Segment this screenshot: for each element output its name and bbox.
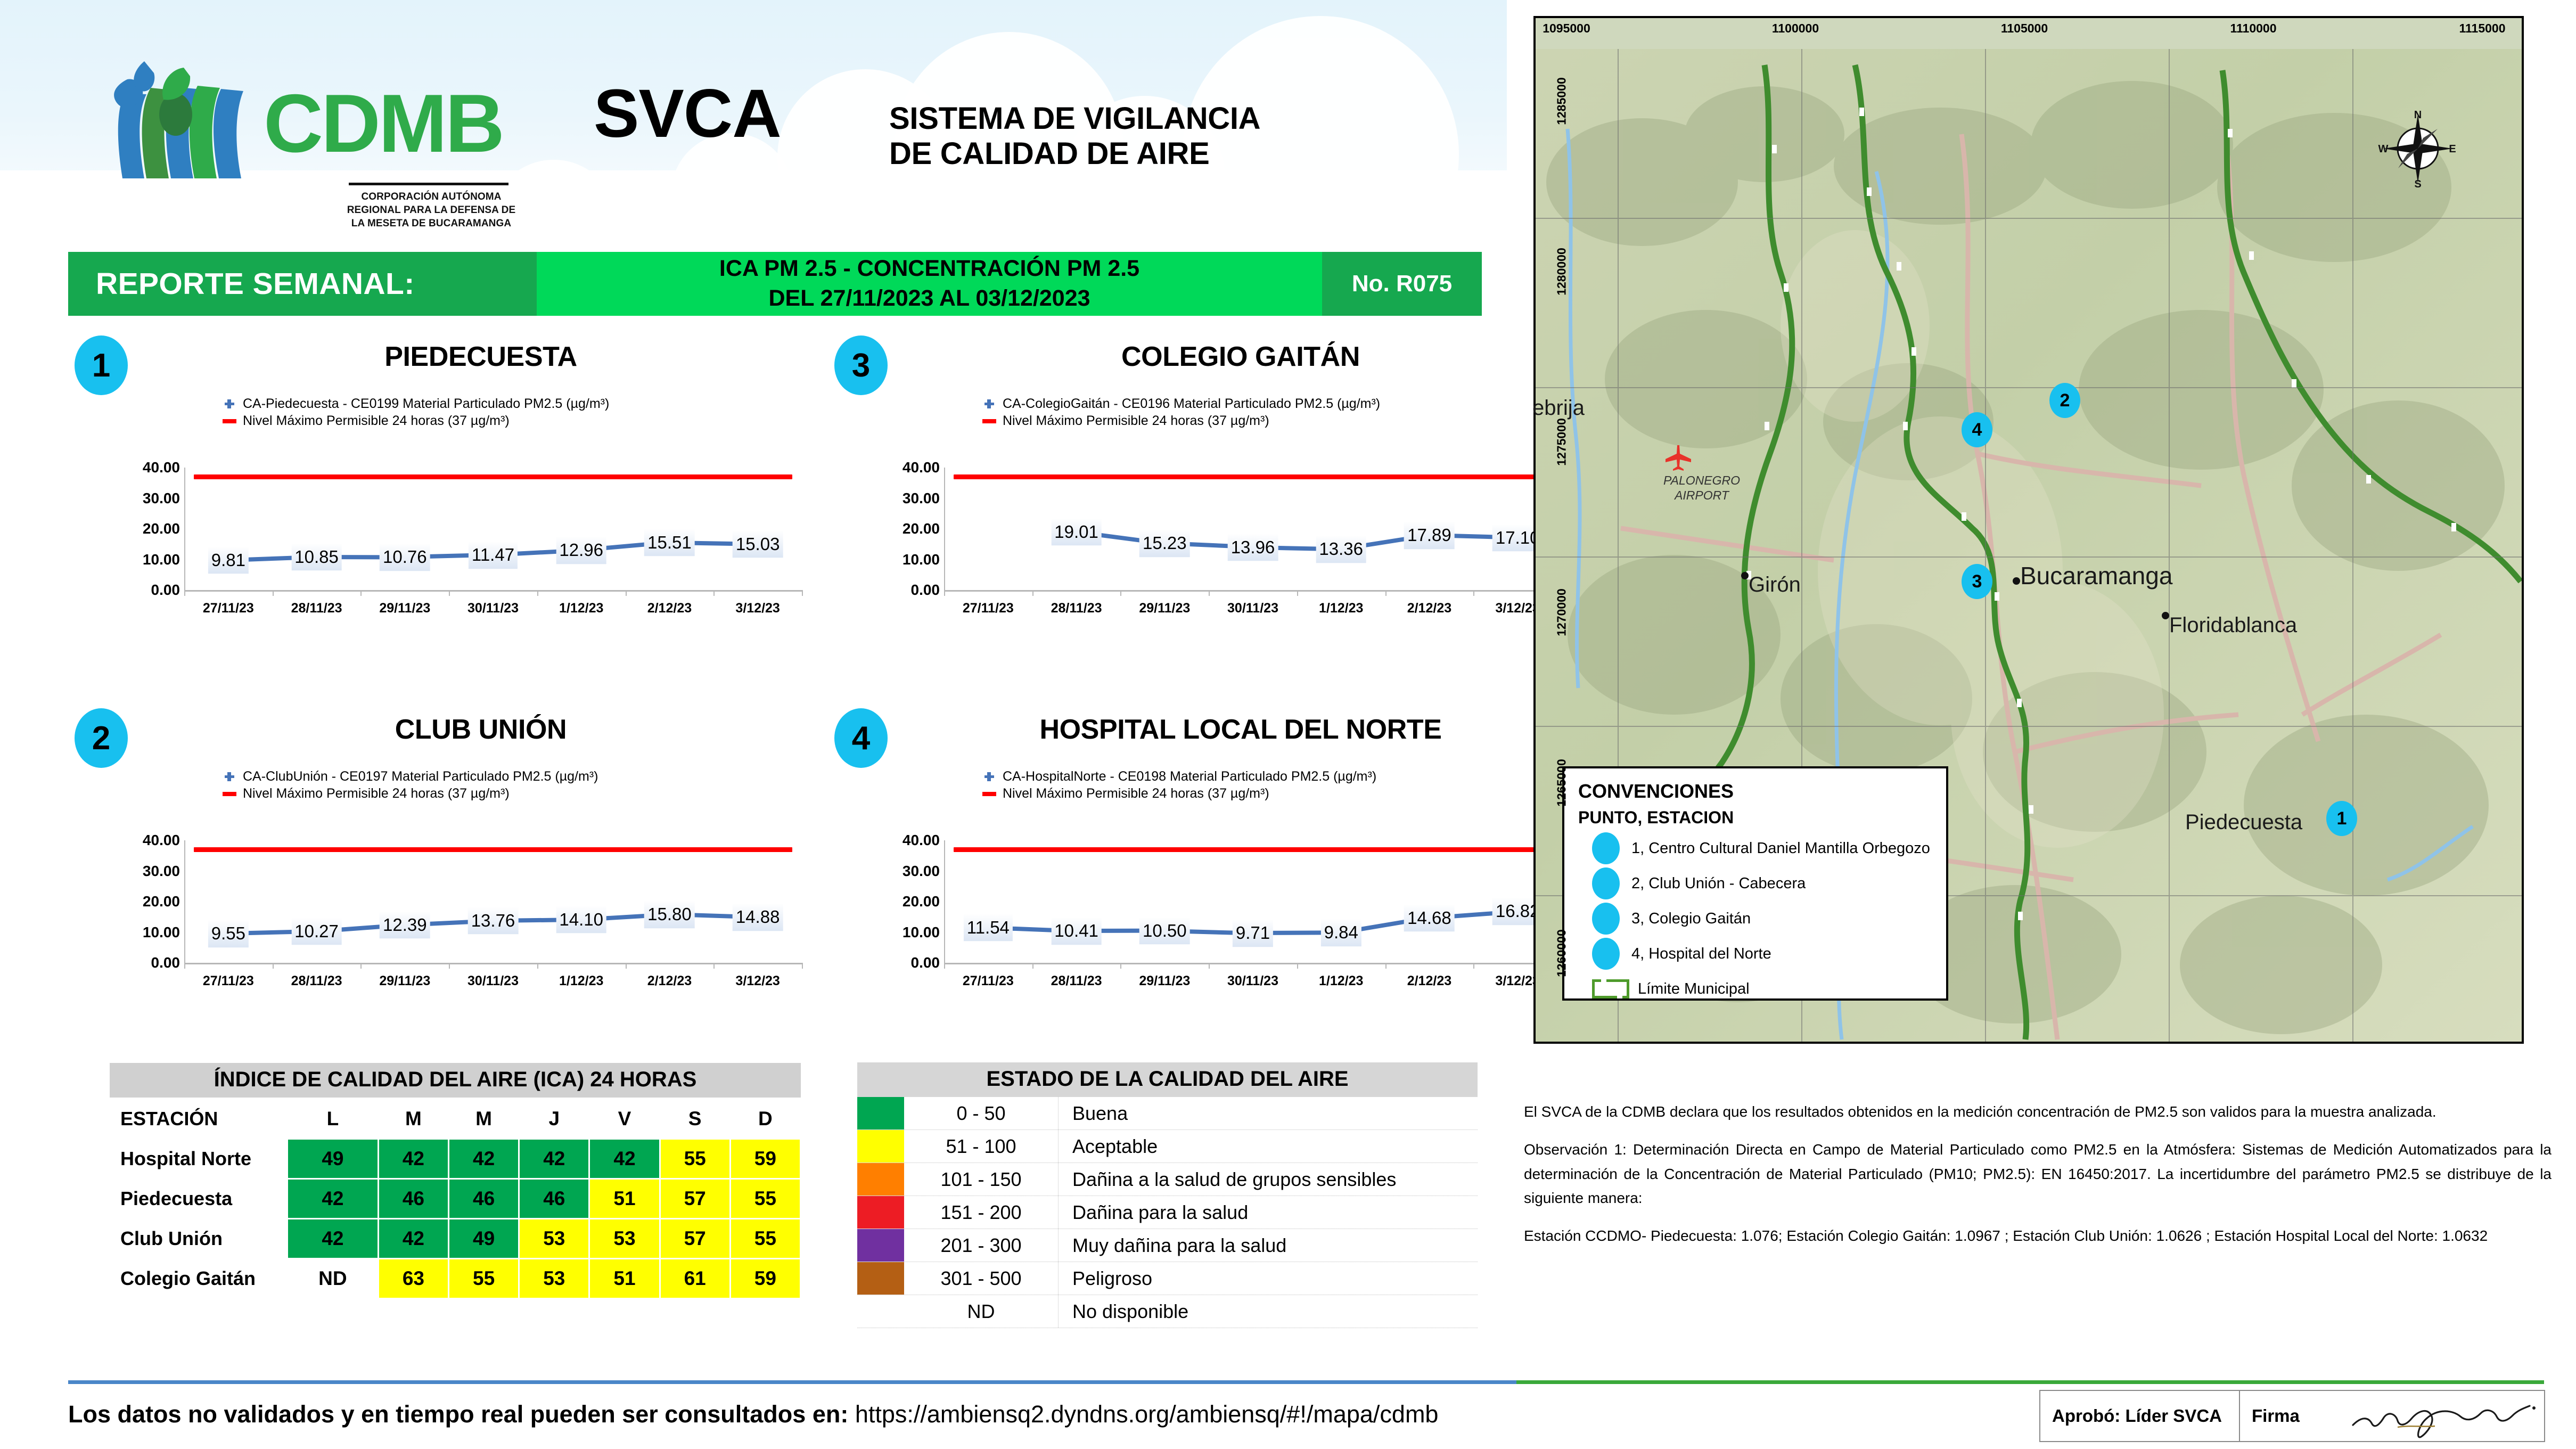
data-label: 17.89: [1404, 521, 1455, 549]
ica-col-header: M: [379, 1100, 448, 1138]
legend-limit-row: Nivel Máximo Permisible 24 horas (37 µg/…: [982, 785, 1376, 802]
chart-plot: 40.0030.0020.0010.000.009.5510.2712.3913…: [63, 840, 835, 995]
legend-series-label: CA-HospitalNorte - CE0198 Material Parti…: [1003, 769, 1376, 784]
x-tick-label: 1/12/23: [1319, 973, 1363, 989]
estado-range: 201 - 300: [904, 1229, 1059, 1262]
data-label: 10.27: [291, 918, 342, 945]
chart-badge: 1: [75, 335, 128, 395]
map-coord-top: 1115000: [2459, 21, 2505, 36]
ica-value-cell: 46: [520, 1180, 588, 1218]
ica-value-cell: ND: [288, 1259, 378, 1298]
x-tick-label: 1/12/23: [559, 973, 603, 989]
limit-marker-icon: [223, 414, 236, 428]
chart-plot: 40.0030.0020.0010.000.0019.0115.2313.961…: [823, 468, 1595, 622]
table-row: Colegio GaitánND635553516159: [111, 1259, 800, 1298]
boundary-swatch-icon: [1592, 979, 1629, 998]
ica-value-cell: 53: [590, 1219, 659, 1258]
data-label: 10.85: [291, 543, 342, 571]
y-tick-label: 20.00: [903, 893, 940, 910]
legend-limit-label: Nivel Máximo Permisible 24 horas (37 µg/…: [1003, 786, 1269, 801]
svg-text:CDMB: CDMB: [264, 77, 503, 169]
ica-value-cell: 59: [731, 1259, 800, 1298]
svg-text:N: N: [2414, 109, 2422, 121]
x-tick-label: 30/11/23: [1227, 601, 1278, 616]
x-axis-tick: [449, 963, 450, 969]
ica-value-cell: 49: [449, 1219, 518, 1258]
ica-value-cell: 55: [661, 1140, 729, 1178]
svg-text:S: S: [2414, 178, 2421, 189]
map-pin-station-2[interactable]: 2: [2049, 383, 2080, 418]
legend-series-row: CA-ColegioGaitán - CE0196 Material Parti…: [982, 395, 1380, 412]
y-tick-label: 20.00: [903, 520, 940, 537]
x-axis-tick: [1209, 590, 1210, 596]
x-axis-tick: [1120, 963, 1121, 969]
x-axis-line: [184, 963, 802, 964]
chart-badge: 4: [834, 708, 888, 768]
footer-rule: [68, 1380, 2544, 1384]
ica-value-cell: 63: [379, 1259, 448, 1298]
data-label: 15.51: [644, 529, 695, 556]
ica-station-name: Colegio Gaitán: [111, 1259, 286, 1298]
chart-plot: 40.0030.0020.0010.000.009.8110.8510.7611…: [63, 468, 835, 622]
data-label: 13.76: [468, 907, 519, 935]
footer-text: Los datos no validados y en tiempo real …: [68, 1401, 1438, 1428]
data-label: 19.01: [1051, 518, 1102, 546]
x-axis-labels: 27/11/2328/11/2329/11/2330/11/231/12/232…: [944, 973, 1562, 995]
chart-badge: 3: [834, 335, 888, 395]
data-label: 9.55: [208, 920, 249, 947]
data-label: 11.47: [469, 541, 518, 569]
x-axis-tick: [184, 963, 185, 969]
estado-row: 0 - 50 Buena: [857, 1097, 1478, 1130]
x-axis-tick: [944, 590, 945, 596]
map-pin-station-3[interactable]: 3: [1962, 564, 1992, 599]
ica-value-cell: 55: [731, 1180, 800, 1218]
estado-description: Aceptable: [1059, 1130, 1478, 1163]
map-label-bucaramanga: Bucaramanga: [2020, 561, 2172, 590]
svca-title: SVCA: [594, 80, 781, 148]
legend-pin-icon: [1592, 867, 1620, 899]
map-panel: Bucaramanga Girón Floridablanca Piedecue…: [1533, 16, 2524, 1044]
map-airport-marker: PALONEGROAIRPORT: [1663, 444, 1740, 503]
map-label-floridablanca: Floridablanca: [2169, 613, 2297, 637]
x-tick-label: 2/12/23: [647, 601, 692, 616]
y-tick-label: 0.00: [911, 954, 940, 971]
estado-description: Dañina a la salud de grupos sensibles: [1059, 1163, 1478, 1196]
data-label: 10.41: [1051, 917, 1102, 945]
y-tick-label: 10.00: [903, 924, 940, 941]
banner-right: No. R075: [1322, 252, 1482, 316]
legend-series-label: CA-ClubUnión - CE0197 Material Particula…: [243, 769, 598, 784]
estado-color-swatch: [857, 1262, 904, 1295]
data-label: 9.71: [1233, 919, 1273, 947]
data-label: 9.84: [1321, 919, 1361, 947]
chart-title: PIEDECUESTA: [143, 341, 819, 373]
x-axis-tick: [1385, 590, 1387, 596]
x-axis-tick: [1473, 963, 1474, 969]
x-axis-tick: [1473, 590, 1474, 596]
ica-value-cell: 42: [288, 1180, 378, 1218]
ica-value-cell: 42: [288, 1219, 378, 1258]
x-axis-labels: 27/11/2328/11/2329/11/2330/11/231/12/232…: [944, 601, 1562, 622]
ica-value-cell: 57: [661, 1180, 729, 1218]
data-label: 12.96: [556, 537, 606, 564]
map-coord-top: 1105000: [2001, 21, 2048, 36]
map-coord-top: 1095000: [1543, 21, 1590, 36]
data-label: 14.10: [556, 906, 606, 934]
x-tick-label: 28/11/23: [1051, 973, 1102, 989]
legend-station-label: 4, Hospital del Norte: [1631, 945, 1771, 963]
table-row: Club Unión42424953535755: [111, 1219, 800, 1258]
x-tick-label: 29/11/23: [1139, 601, 1190, 616]
ica-value-cell: 61: [661, 1259, 729, 1298]
x-axis-tick: [1297, 590, 1298, 596]
legend-series-row: CA-HospitalNorte - CE0198 Material Parti…: [982, 768, 1376, 785]
chart-piedecuesta: 1PIEDECUESTA CA-Piedecuesta - CE0199 Mat…: [63, 330, 835, 650]
y-tick-label: 40.00: [143, 459, 180, 476]
estado-row: 151 - 200 Dañina para la salud: [857, 1196, 1478, 1229]
ica-value-cell: 42: [590, 1140, 659, 1178]
legend-station-row: 1, Centro Cultural Daniel Mantilla Orbeg…: [1578, 831, 1946, 866]
signature-mark-icon: [2347, 1394, 2538, 1440]
map-coord-left: 1260000: [1554, 929, 1569, 977]
chart-legend: CA-Piedecuesta - CE0199 Material Particu…: [223, 395, 609, 429]
ica-value-cell: 55: [731, 1219, 800, 1258]
note-paragraph-2: Observación 1: Determinación Directa en …: [1524, 1137, 2552, 1210]
legend-series-label: CA-ColegioGaitán - CE0196 Material Parti…: [1003, 396, 1380, 412]
svg-text:E: E: [2449, 143, 2456, 155]
ica-col-header: V: [590, 1100, 659, 1138]
x-tick-label: 27/11/23: [963, 973, 1014, 989]
chart-legend: CA-ColegioGaitán - CE0196 Material Parti…: [982, 395, 1380, 429]
data-label: 10.50: [1139, 917, 1190, 945]
x-axis-tick: [1120, 590, 1121, 596]
legend-series-row: CA-ClubUnión - CE0197 Material Particula…: [223, 768, 598, 785]
legend-station-row: 4, Hospital del Norte: [1578, 936, 1946, 971]
chart-colegio-gaitan: 3COLEGIO GAITÁN CA-ColegioGaitán - CE019…: [823, 330, 1595, 650]
y-tick-label: 30.00: [903, 863, 940, 880]
estado-range: 0 - 50: [904, 1097, 1059, 1129]
ica-value-cell: 42: [449, 1140, 518, 1178]
map-legend-convenciones: CONVENCIONES PUNTO, ESTACION 1, Centro C…: [1562, 766, 1948, 1001]
ica-station-name: Club Unión: [111, 1219, 286, 1258]
banner-left-label: REPORTE SEMANAL:: [96, 266, 415, 301]
map-dot-floridablanca: [2162, 612, 2169, 619]
ica-value-cell: 49: [288, 1140, 378, 1178]
estado-color-swatch: [857, 1229, 904, 1262]
cdmb-logo: CDMB CORPORACIÓN AUTÓNOMA REGIONAL PARA …: [93, 56, 514, 226]
legend-pin-icon: [1592, 938, 1620, 970]
table-row: Piedecuesta42464646515755: [111, 1180, 800, 1218]
map-dot-giron: [1741, 572, 1749, 579]
data-series: 11.5410.4110.509.719.8414.6816.82: [944, 840, 1562, 963]
y-tick-label: 10.00: [903, 551, 940, 568]
y-tick-label: 40.00: [903, 459, 940, 476]
logo-subtitle: CORPORACIÓN AUTÓNOMA REGIONAL PARA LA DE…: [343, 190, 519, 230]
map-label-piedecuesta: Piedecuesta: [2185, 811, 2302, 834]
ica-value-cell: 42: [379, 1140, 448, 1178]
footer-prefix: Los datos no validados y en tiempo real …: [68, 1401, 848, 1428]
data-series: 9.5510.2712.3913.7614.1015.8014.88: [184, 840, 802, 963]
data-label: 11.54: [964, 914, 1013, 942]
data-label: 15.80: [644, 900, 695, 928]
report-banner: REPORTE SEMANAL: ICA PM 2.5 - CONCENTRAC…: [68, 252, 1482, 316]
banner-center: ICA PM 2.5 - CONCENTRACIÓN PM 2.5 DEL 27…: [537, 252, 1322, 316]
legend-subtitle: PUNTO, ESTACION: [1578, 808, 1946, 828]
limit-marker-icon: [223, 787, 236, 800]
ica-col-header: ESTACIÓN: [111, 1100, 286, 1138]
estado-description: Dañina para la salud: [1059, 1196, 1478, 1229]
estado-row: 201 - 300 Muy dañina para la salud: [857, 1229, 1478, 1262]
y-axis-labels: 40.0030.0020.0010.000.00: [876, 840, 940, 963]
legend-station-row: 2, Club Unión - Cabecera: [1578, 866, 1946, 901]
ica-station-name: Hospital Norte: [111, 1140, 286, 1178]
ica-value-cell: 42: [379, 1219, 448, 1258]
legend-limit-label: Nivel Máximo Permisible 24 horas (37 µg/…: [243, 413, 510, 429]
ica-value-cell: 51: [590, 1259, 659, 1298]
legend-boundary-row: Límite Municipal: [1578, 971, 1946, 1006]
y-axis-labels: 40.0030.0020.0010.000.00: [116, 468, 180, 590]
banner-left: REPORTE SEMANAL:: [68, 252, 537, 316]
airplane-icon: [1663, 444, 1693, 471]
legend-series-row: CA-Piedecuesta - CE0199 Material Particu…: [223, 395, 609, 412]
ica-value-cell: 46: [449, 1180, 518, 1218]
svca-subtitle: SISTEMA DE VIGILANCIA DE CALIDAD DE AIRE: [889, 101, 1260, 171]
chart-club-union: 2CLUB UNIÓN CA-ClubUnión - CE0197 Materi…: [63, 703, 835, 1022]
legend-limit-label: Nivel Máximo Permisible 24 horas (37 µg/…: [243, 786, 510, 801]
table-row: Hospital Norte49424242425559: [111, 1140, 800, 1178]
note-paragraph-3: Estación CCDMO- Piedecuesta: 1.076; Esta…: [1524, 1224, 2552, 1248]
legend-pin-icon: [1592, 903, 1620, 935]
map-pin-station-4[interactable]: 4: [1962, 412, 1992, 447]
notes-block: El SVCA de la CDMB declara que los resul…: [1524, 1100, 2552, 1262]
map-coord-top: 1110000: [2230, 21, 2276, 36]
ica-col-header: J: [520, 1100, 588, 1138]
estado-range: 101 - 150: [904, 1163, 1059, 1196]
estado-row: 51 - 100 Aceptable: [857, 1130, 1478, 1163]
estado-color-swatch: [857, 1097, 904, 1129]
x-axis-tick: [449, 590, 450, 596]
series-marker-icon: [982, 769, 996, 783]
legend-boundary-label: Límite Municipal: [1638, 980, 1750, 998]
ica-value-cell: 57: [661, 1219, 729, 1258]
chart-plot: 40.0030.0020.0010.000.0011.5410.4110.509…: [823, 840, 1595, 995]
x-tick-label: 2/12/23: [1407, 601, 1451, 616]
data-label: 14.88: [733, 904, 783, 931]
legend-series-label: CA-Piedecuesta - CE0199 Material Particu…: [243, 396, 609, 412]
data-label: 13.36: [1316, 535, 1366, 563]
signature-cell: Firma: [2240, 1391, 2544, 1441]
x-axis-tick: [944, 963, 945, 969]
ica-value-cell: 51: [590, 1180, 659, 1218]
x-tick-label: 28/11/23: [291, 601, 342, 616]
x-tick-label: 27/11/23: [203, 973, 254, 989]
ica-value-cell: 53: [520, 1259, 588, 1298]
ica-col-header: L: [288, 1100, 378, 1138]
footer-url[interactable]: https://ambiensq2.dyndns.org/ambiensq/#!…: [855, 1401, 1439, 1428]
map-dot-bucaramanga: [2013, 577, 2020, 585]
legend-limit-label: Nivel Máximo Permisible 24 horas (37 µg/…: [1003, 413, 1269, 429]
data-label: 15.23: [1139, 530, 1190, 558]
y-axis-labels: 40.0030.0020.0010.000.00: [876, 468, 940, 590]
x-axis-line: [184, 590, 802, 592]
y-tick-label: 20.00: [143, 893, 180, 910]
ica-value-cell: 42: [520, 1140, 588, 1178]
estado-description: Buena: [1059, 1097, 1478, 1129]
map-coord-top: 1100000: [1772, 21, 1819, 36]
estado-color-swatch: [857, 1130, 904, 1163]
data-label: 13.96: [1228, 534, 1278, 561]
y-tick-label: 40.00: [143, 832, 180, 849]
ica-header-row: ESTACIÓNLMMJVSD: [111, 1100, 800, 1138]
signature-label: Firma: [2252, 1406, 2300, 1426]
ica-table: ÍNDICE DE CALIDAD DEL AIRE (ICA) 24 HORA…: [109, 1062, 801, 1299]
chart-title: COLEGIO GAITÁN: [903, 341, 1579, 373]
x-axis-tick: [184, 590, 185, 596]
report-number: No. R075: [1352, 271, 1452, 297]
x-tick-label: 2/12/23: [647, 973, 692, 989]
x-tick-label: 30/11/23: [467, 973, 519, 989]
ica-station-name: Piedecuesta: [111, 1180, 286, 1218]
y-tick-label: 0.00: [151, 954, 181, 971]
x-tick-label: 29/11/23: [1139, 973, 1190, 989]
compass-rose-icon: N S E W: [2378, 109, 2458, 189]
y-tick-label: 30.00: [143, 863, 180, 880]
x-tick-label: 1/12/23: [559, 601, 603, 616]
x-tick-label: 2/12/23: [1407, 973, 1451, 989]
y-tick-label: 0.00: [151, 582, 181, 599]
y-tick-label: 30.00: [143, 490, 180, 507]
map-label-giron: Girón: [1749, 573, 1801, 597]
map-label-lebrija: ebrija: [1532, 396, 1585, 420]
series-marker-icon: [223, 769, 236, 783]
x-axis-tick: [360, 963, 362, 969]
chart-title: HOSPITAL LOCAL DEL NORTE: [903, 714, 1579, 746]
x-tick-label: 3/12/23: [735, 973, 780, 989]
data-label: 9.81: [208, 546, 249, 574]
map-coord-left: 1280000: [1554, 248, 1569, 296]
chart-hospital-norte: 4HOSPITAL LOCAL DEL NORTE CA-HospitalNor…: [823, 703, 1595, 1022]
airport-label: PALONEGROAIRPORT: [1663, 473, 1740, 503]
legend-station-label: 2, Club Unión - Cabecera: [1631, 875, 1806, 893]
legend-station-row: 3, Colegio Gaitán: [1578, 901, 1946, 936]
estado-row: 301 - 500 Peligroso: [857, 1262, 1478, 1295]
x-axis-tick: [1032, 963, 1033, 969]
x-axis-tick: [802, 590, 803, 596]
limit-marker-icon: [982, 787, 996, 800]
estado-row: ND No disponible: [857, 1295, 1478, 1328]
x-axis-tick: [1032, 590, 1033, 596]
estado-color-swatch: [857, 1163, 904, 1196]
estado-description: Muy dañina para la salud: [1059, 1229, 1478, 1262]
y-tick-label: 40.00: [903, 832, 940, 849]
estado-range: 301 - 500: [904, 1262, 1059, 1295]
svca-acronym: SVCA: [594, 80, 781, 148]
svg-text:W: W: [2378, 143, 2389, 155]
svca-subtitle-line1: SISTEMA DE VIGILANCIA: [889, 101, 1260, 136]
x-axis-tick: [713, 590, 715, 596]
x-tick-label: 27/11/23: [203, 601, 254, 616]
estado-range: 151 - 200: [904, 1196, 1059, 1229]
x-axis-tick: [273, 590, 274, 596]
ica-col-header: S: [661, 1100, 729, 1138]
limit-marker-icon: [982, 414, 996, 428]
data-label: 15.03: [733, 530, 783, 558]
x-axis-tick: [626, 963, 627, 969]
x-axis-line: [944, 963, 1562, 964]
svca-subtitle-line2: DE CALIDAD DE AIRE: [889, 136, 1260, 171]
banner-center-line2: DEL 27/11/2023 AL 03/12/2023: [768, 284, 1090, 314]
ica-value-cell: 59: [731, 1140, 800, 1178]
approved-label: Aprobó: Líder SVCA: [2040, 1391, 2240, 1441]
y-tick-label: 30.00: [903, 490, 940, 507]
data-series: 19.0115.2313.9613.3617.8917.10: [944, 468, 1562, 590]
legend-limit-row: Nivel Máximo Permisible 24 horas (37 µg/…: [982, 412, 1380, 429]
chart-badge: 2: [75, 708, 128, 768]
banner-center-line1: ICA PM 2.5 - CONCENTRACIÓN PM 2.5: [719, 254, 1139, 284]
estado-table: ESTADO DE LA CALIDAD DEL AIRE 0 - 50 Bue…: [857, 1062, 1478, 1328]
legend-limit-row: Nivel Máximo Permisible 24 horas (37 µg/…: [223, 785, 598, 802]
data-label: 10.76: [380, 543, 430, 571]
note-paragraph-1: El SVCA de la CDMB declara que los resul…: [1524, 1100, 2552, 1124]
chart-legend: CA-ClubUnión - CE0197 Material Particula…: [223, 768, 598, 802]
map-coord-left: 1265000: [1554, 759, 1569, 807]
x-tick-label: 29/11/23: [379, 601, 430, 616]
y-tick-label: 0.00: [911, 582, 940, 599]
legend-limit-row: Nivel Máximo Permisible 24 horas (37 µg/…: [223, 412, 609, 429]
x-tick-label: 1/12/23: [1319, 601, 1363, 616]
x-axis-tick: [802, 963, 803, 969]
legend-station-label: 3, Colegio Gaitán: [1631, 910, 1751, 928]
estado-row: 101 - 150 Dañina a la salud de grupos se…: [857, 1163, 1478, 1196]
x-tick-label: 28/11/23: [291, 973, 342, 989]
x-axis-tick: [273, 963, 274, 969]
map-coord-left: 1275000: [1554, 418, 1569, 466]
legend-title: CONVENCIONES: [1578, 780, 1946, 803]
x-tick-label: 30/11/23: [1227, 973, 1278, 989]
x-tick-label: 27/11/23: [963, 601, 1014, 616]
estado-range: 51 - 100: [904, 1130, 1059, 1163]
x-axis-tick: [1209, 963, 1210, 969]
x-axis-tick: [537, 590, 538, 596]
chart-legend: CA-HospitalNorte - CE0198 Material Parti…: [982, 768, 1376, 802]
estado-color-swatch: [857, 1295, 904, 1328]
data-label: 14.68: [1404, 904, 1455, 932]
x-axis-tick: [360, 590, 362, 596]
series-marker-icon: [982, 397, 996, 411]
x-tick-label: 28/11/23: [1051, 601, 1102, 616]
x-axis-tick: [537, 963, 538, 969]
x-axis-tick: [1385, 963, 1387, 969]
map-coord-left: 1285000: [1554, 77, 1569, 125]
x-axis-tick: [626, 590, 627, 596]
estado-description: No disponible: [1059, 1295, 1478, 1328]
logo-divider: [349, 183, 508, 185]
map-pin-station-1[interactable]: 1: [2326, 801, 2357, 836]
legend-pin-icon: [1592, 832, 1620, 864]
data-label: 12.39: [380, 911, 430, 939]
ica-value-cell: 55: [449, 1259, 518, 1298]
y-tick-label: 10.00: [143, 924, 180, 941]
ica-value-cell: 46: [379, 1180, 448, 1218]
y-tick-label: 20.00: [143, 520, 180, 537]
data-series: 9.8110.8510.7611.4712.9615.5115.03: [184, 468, 802, 590]
ica-table-caption: ÍNDICE DE CALIDAD DEL AIRE (ICA) 24 HORA…: [109, 1062, 801, 1098]
x-tick-label: 30/11/23: [467, 601, 519, 616]
x-axis-tick: [1297, 963, 1298, 969]
ica-col-header: D: [731, 1100, 800, 1138]
x-axis-labels: 27/11/2328/11/2329/11/2330/11/231/12/232…: [184, 973, 802, 995]
